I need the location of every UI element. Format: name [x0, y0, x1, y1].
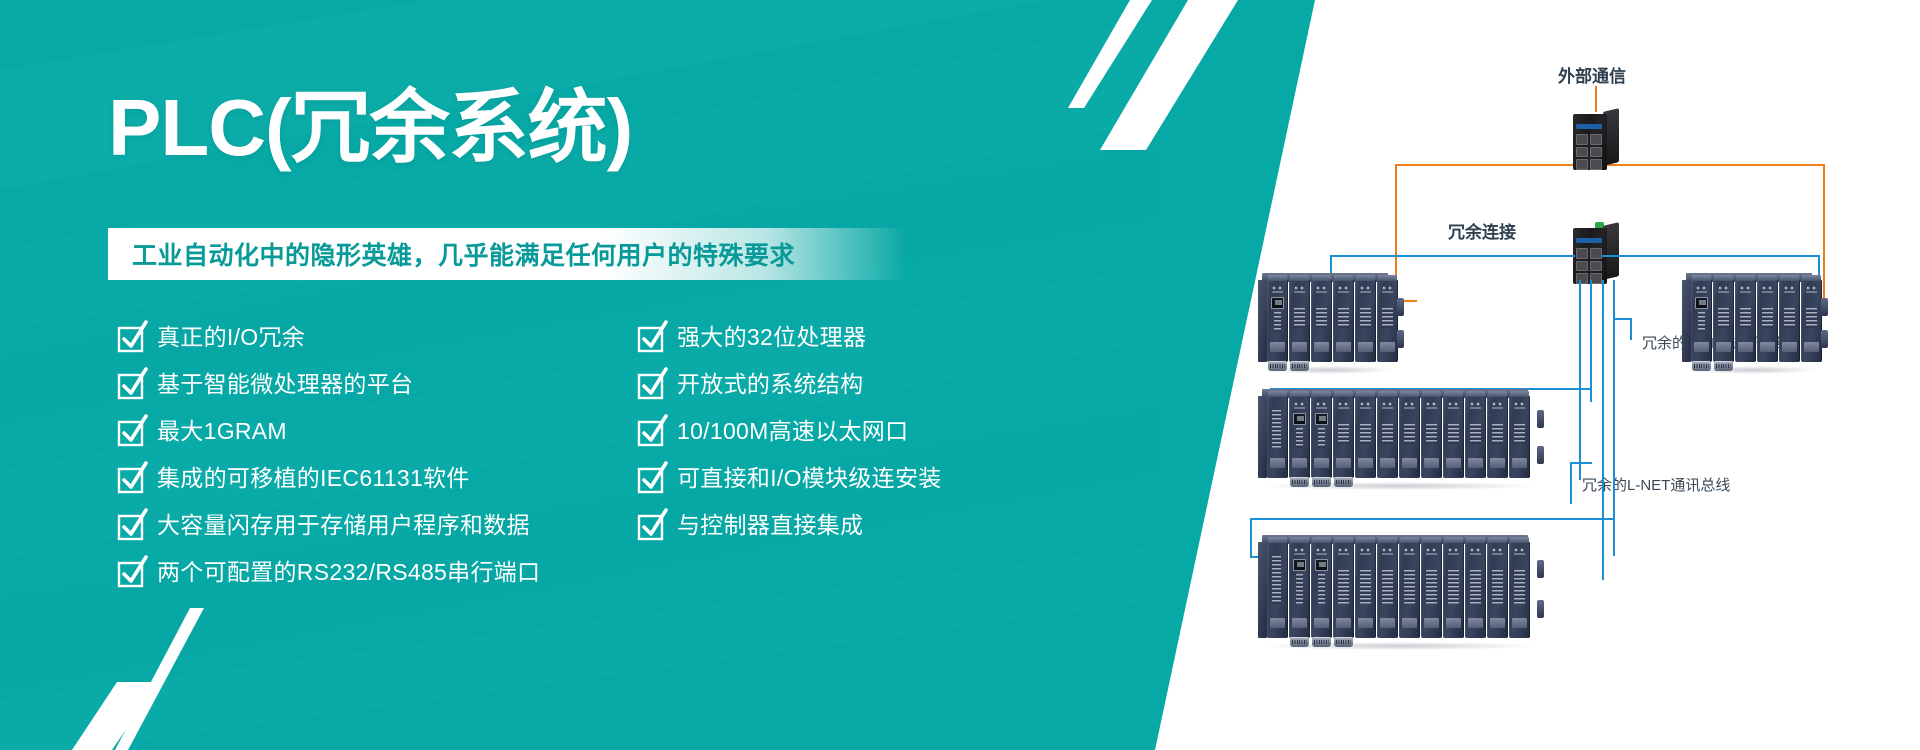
feature-label: 10/100M高速以太网口: [677, 416, 908, 446]
feature-item: 基于智能微处理器的平台: [118, 369, 540, 415]
wire-bus-2: [1590, 280, 1592, 390]
switch-body: [1573, 114, 1607, 170]
plc-module-io: [1487, 542, 1508, 638]
feature-label: 两个可配置的RS232/RS485串行端口: [157, 557, 540, 587]
plc-module-io: [1465, 396, 1486, 478]
plc-module-io: [1399, 542, 1420, 638]
rack-mount-ear: [1537, 446, 1544, 464]
rack-endcap-left: [1258, 542, 1267, 638]
page-title: PLC(冗余系统): [108, 88, 632, 168]
feature-item: 强大的32位处理器: [638, 322, 942, 368]
feature-label: 集成的可移植的IEC61131软件: [157, 463, 470, 493]
plc-module-io: [1377, 542, 1398, 638]
rj45-port-icon: [1271, 297, 1284, 309]
feature-label: 可直接和I/O模块级连安装: [677, 463, 942, 493]
rack-mount-ear: [1821, 298, 1828, 316]
rack-endcap-left: [1258, 280, 1267, 362]
checkbox-checked-icon: [638, 467, 663, 492]
plc-module-io: [1333, 396, 1354, 478]
wire-upper-io-drop-c: [1590, 376, 1592, 402]
plc-module-cpu: [1691, 280, 1712, 362]
plc-module-power: [1267, 396, 1288, 478]
checkbox-checked-icon: [118, 326, 143, 351]
wire-blue-link-left: [1330, 255, 1575, 257]
plc-module-io: [1355, 542, 1376, 638]
rack-mount-ear: [1537, 600, 1544, 618]
plc-module-io: [1355, 396, 1376, 478]
plc-rack-io-upper: [1258, 396, 1538, 478]
rj45-port-icon: [1293, 559, 1306, 571]
label-external-comm: 外部通信: [1558, 62, 1626, 87]
module-brand-logo: [1271, 286, 1284, 293]
checkbox-checked-icon: [638, 326, 663, 351]
plc-module-io: [1289, 280, 1310, 362]
plc-module-io: [1509, 396, 1530, 478]
plc-module-io: [1377, 396, 1398, 478]
checkbox-checked-icon: [638, 514, 663, 539]
wire-orange-down-right: [1823, 164, 1825, 302]
plc-module-io: [1509, 542, 1530, 638]
plc-module-io: [1421, 542, 1442, 638]
plc-module-io: [1443, 542, 1464, 638]
wire-bus-3: [1602, 280, 1604, 580]
wire-bus-1: [1579, 280, 1581, 480]
leader-lnet-upper-v: [1630, 318, 1632, 340]
plc-rack-cpu-a: [1258, 280, 1398, 362]
plc-module-io: [1333, 542, 1354, 638]
ethernet-switch-middle: [1573, 222, 1619, 286]
wire-lower-io-drop-a: [1250, 518, 1252, 556]
rack-mount-ear: [1397, 298, 1404, 316]
leader-lnet-lower-h: [1570, 462, 1592, 464]
rack-module-group: [1267, 542, 1531, 638]
checkbox-checked-icon: [638, 373, 663, 398]
feature-column-right: 强大的32位处理器 开放式的系统结构 10/100M高速以太网口 可直接和I/O…: [638, 322, 942, 557]
feature-item: 可直接和I/O模块级连安装: [638, 463, 942, 509]
rj45-port-icon: [1315, 413, 1328, 425]
switch-port-block: [1576, 134, 1602, 170]
wire-orange-top-right: [1595, 164, 1825, 166]
feature-column-left: 真正的I/O冗余 基于智能微处理器的平台 最大1GRAM 集成的可移植的IEC6…: [118, 322, 540, 604]
wire-lower-io-drop-b: [1613, 518, 1615, 556]
rack-mount-ear: [1537, 560, 1544, 578]
checkbox-checked-icon: [118, 514, 143, 539]
leader-lnet-upper-h: [1613, 318, 1631, 320]
wire-bus-4: [1613, 280, 1615, 520]
rack-endcap-left: [1258, 396, 1267, 478]
switch-port-block: [1576, 248, 1602, 284]
plc-module-power: [1267, 542, 1288, 638]
plc-module-io: [1801, 280, 1822, 362]
rj45-port-icon: [1293, 413, 1306, 425]
wire-orange-top-left: [1395, 164, 1600, 166]
feature-item: 大容量闪存用于存储用户程序和数据: [118, 510, 540, 556]
feature-label: 最大1GRAM: [157, 416, 287, 446]
plc-module-io: [1465, 542, 1486, 638]
feature-item: 与控制器直接集成: [638, 510, 942, 556]
plc-module-io: [1713, 280, 1734, 362]
plc-module-io: [1757, 280, 1778, 362]
switch-label-strip: [1576, 124, 1602, 129]
feature-label: 强大的32位处理器: [677, 322, 866, 352]
wire-lower-io-drop-c: [1602, 556, 1604, 578]
rack-module-group: [1691, 280, 1823, 362]
rack-mount-ear: [1821, 330, 1828, 348]
label-lnet-bus-lower: 冗余的L-NET通讯总线: [1582, 474, 1730, 495]
wire-lower-io-feed-a: [1250, 518, 1615, 520]
plc-module-io: [1443, 396, 1464, 478]
feature-label: 真正的I/O冗余: [157, 322, 305, 352]
plc-rack-cpu-b: [1682, 280, 1822, 362]
plc-module-io: [1487, 396, 1508, 478]
rack-module-group: [1267, 280, 1399, 362]
rack-endcap-left: [1682, 280, 1691, 362]
checkbox-checked-icon: [118, 420, 143, 445]
switch-label-strip: [1576, 238, 1602, 243]
architecture-diagram: 外部通信 冗余连接 冗余的L-NET通讯总线 冗余的L-NET通讯总线: [1130, 0, 1920, 750]
hero-pane: PLC(冗余系统) 工业自动化中的隐形英雄，几乎能满足任何用户的特殊要求 真正的…: [0, 0, 1160, 750]
plc-module-cpu: [1289, 396, 1310, 478]
plc-module-cpu: [1289, 542, 1310, 638]
feature-label: 基于智能微处理器的平台: [157, 369, 413, 399]
ethernet-switch-top: [1573, 108, 1619, 172]
plc-module-io: [1355, 280, 1376, 362]
plc-rack-io-lower: [1258, 542, 1538, 638]
checkbox-checked-icon: [118, 561, 143, 586]
wire-upper-io-drop-b: [1579, 388, 1581, 402]
leader-lnet-lower-v: [1570, 462, 1572, 504]
plc-module-cpu: [1311, 396, 1332, 478]
plc-module-io: [1311, 280, 1332, 362]
feature-item: 集成的可移植的IEC61131软件: [118, 463, 540, 509]
plc-module-io: [1333, 280, 1354, 362]
rack-module-group: [1267, 396, 1531, 478]
plc-module-io: [1421, 396, 1442, 478]
rack-mount-ear: [1537, 410, 1544, 428]
feature-item: 10/100M高速以太网口: [638, 416, 942, 462]
subtitle-banner: 工业自动化中的隐形英雄，几乎能满足任何用户的特殊要求: [108, 228, 908, 280]
rj45-port-icon: [1315, 559, 1328, 571]
checkbox-checked-icon: [118, 467, 143, 492]
feature-item: 开放式的系统结构: [638, 369, 942, 415]
plc-module-cpu: [1267, 280, 1288, 362]
feature-item: 真正的I/O冗余: [118, 322, 540, 368]
wire-blue-link-right: [1602, 255, 1820, 257]
plc-module-io: [1779, 280, 1800, 362]
plc-module-io: [1399, 396, 1420, 478]
plc-module-io: [1735, 280, 1756, 362]
rack-mount-ear: [1397, 330, 1404, 348]
plc-module-cpu: [1311, 542, 1332, 638]
feature-item: 两个可配置的RS232/RS485串行端口: [118, 557, 540, 603]
feature-label: 开放式的系统结构: [677, 369, 863, 399]
rj45-port-icon: [1695, 297, 1708, 309]
subtitle-text: 工业自动化中的隐形英雄，几乎能满足任何用户的特殊要求: [108, 236, 795, 272]
label-redundant-link: 冗余连接: [1448, 218, 1516, 243]
checkbox-checked-icon: [118, 373, 143, 398]
feature-item: 最大1GRAM: [118, 416, 540, 462]
checkbox-checked-icon: [638, 420, 663, 445]
plc-module-io: [1377, 280, 1398, 362]
feature-label: 大容量闪存用于存储用户程序和数据: [157, 510, 530, 540]
feature-label: 与控制器直接集成: [677, 510, 863, 540]
